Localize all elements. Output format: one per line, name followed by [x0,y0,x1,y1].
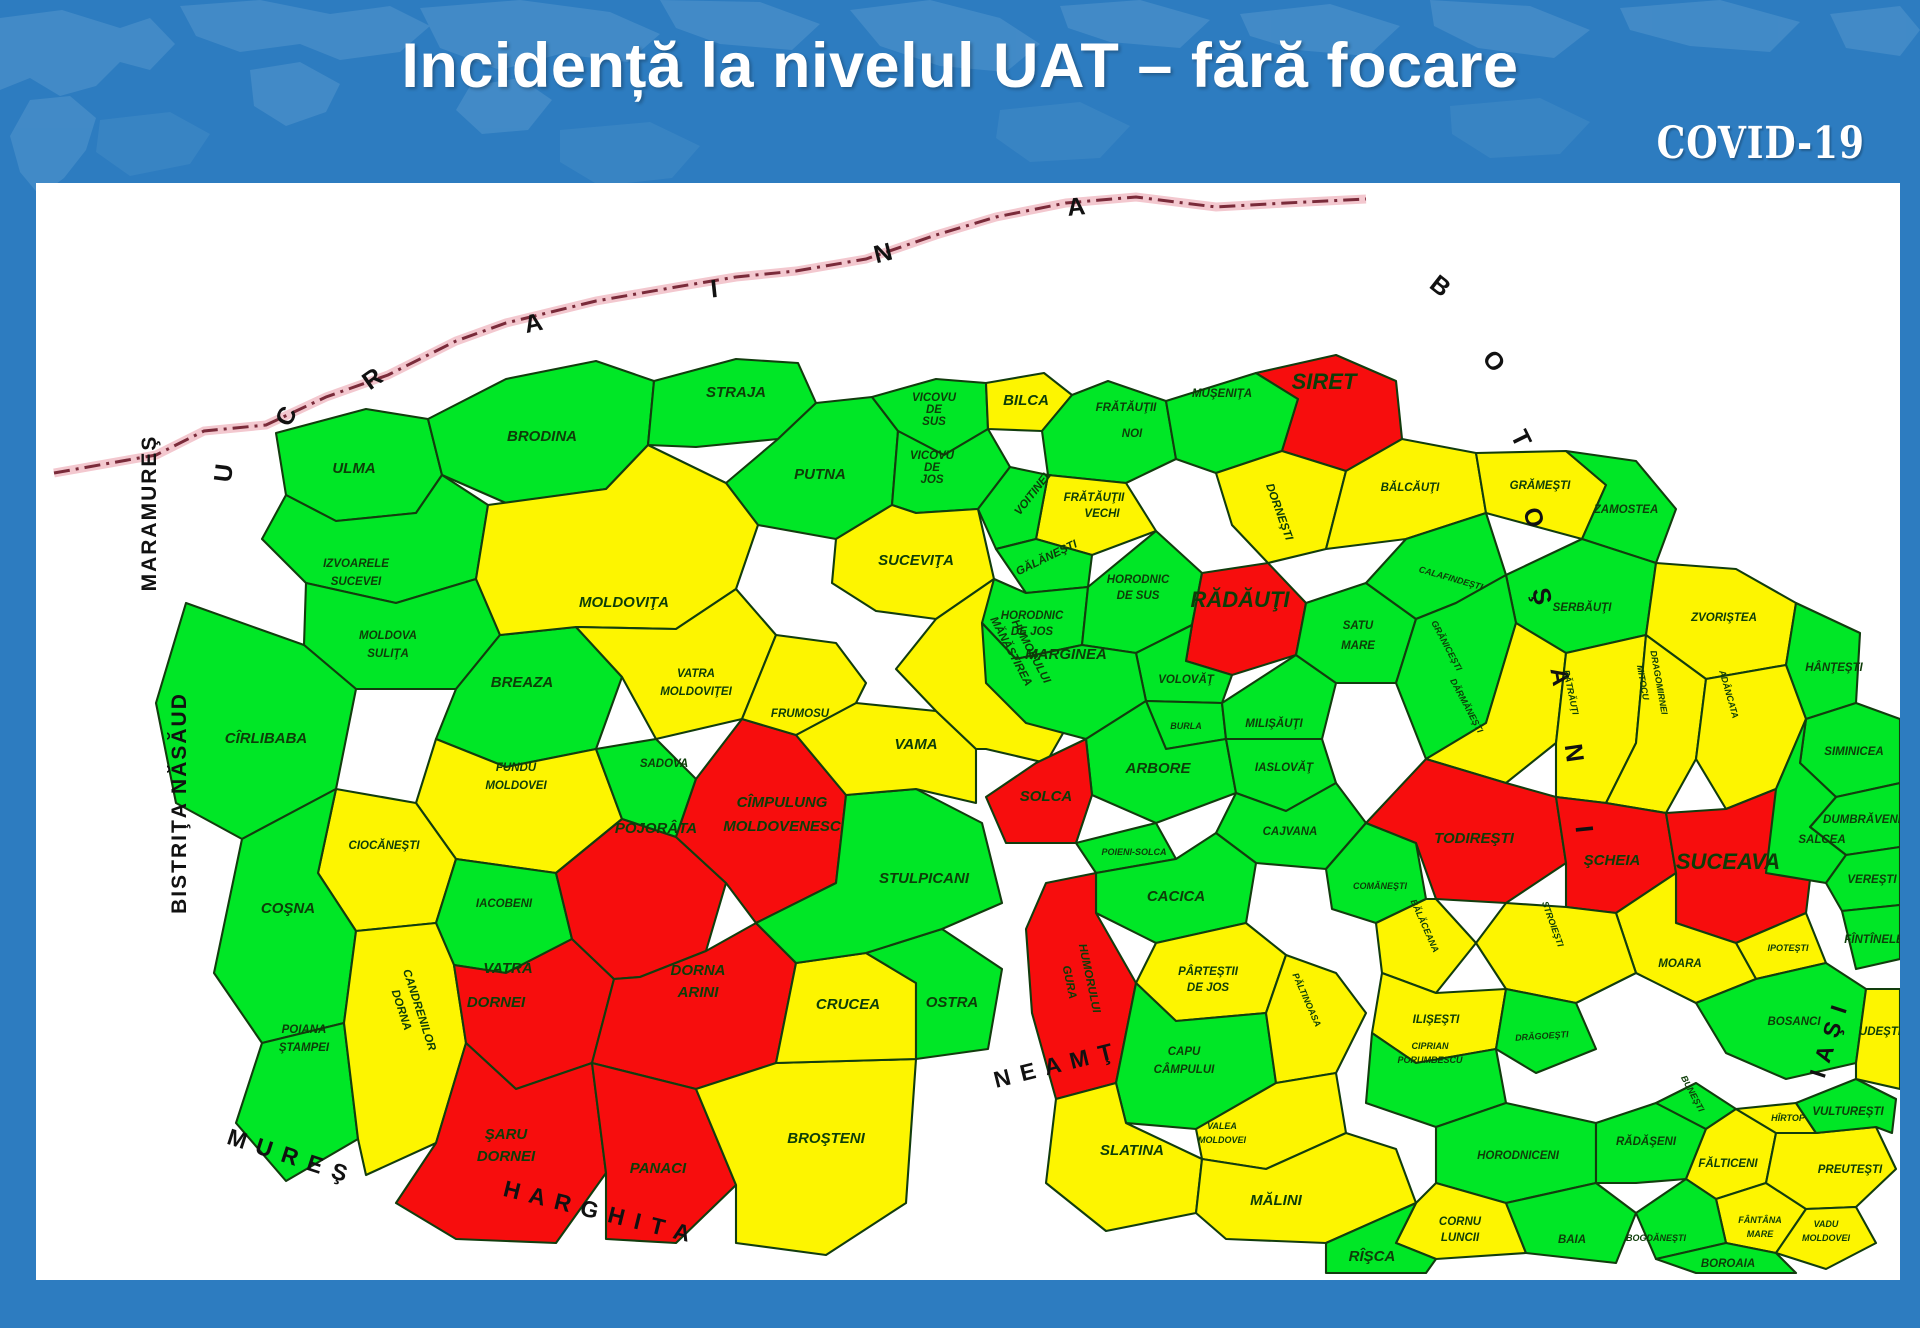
county-label-bistrita-nasaud: BISTRIŢA NĂSĂUD [168,692,191,914]
covid-label: COVID-19 [1657,118,1865,169]
page-title: Incidență la nivelul UAT – fără focare [0,30,1920,102]
suceava-county-map[interactable]: U C R A I N A MARAMUREŞ BISTRIŢA NĂSĂUD … [36,183,1900,1280]
county-label-ucraina-a2: A [1066,192,1089,222]
slide-root: Incidență la nivelul UAT – fără focare C… [0,0,1920,1328]
county-label-botosani-n: N [1559,742,1590,766]
map-canvas[interactable]: U C R A I N A MARAMUREŞ BISTRIŢA NĂSĂUD … [36,183,1900,1280]
county-label-ucraina-u: U [209,460,239,483]
county-label-maramures: MARAMUREŞ [138,435,161,592]
